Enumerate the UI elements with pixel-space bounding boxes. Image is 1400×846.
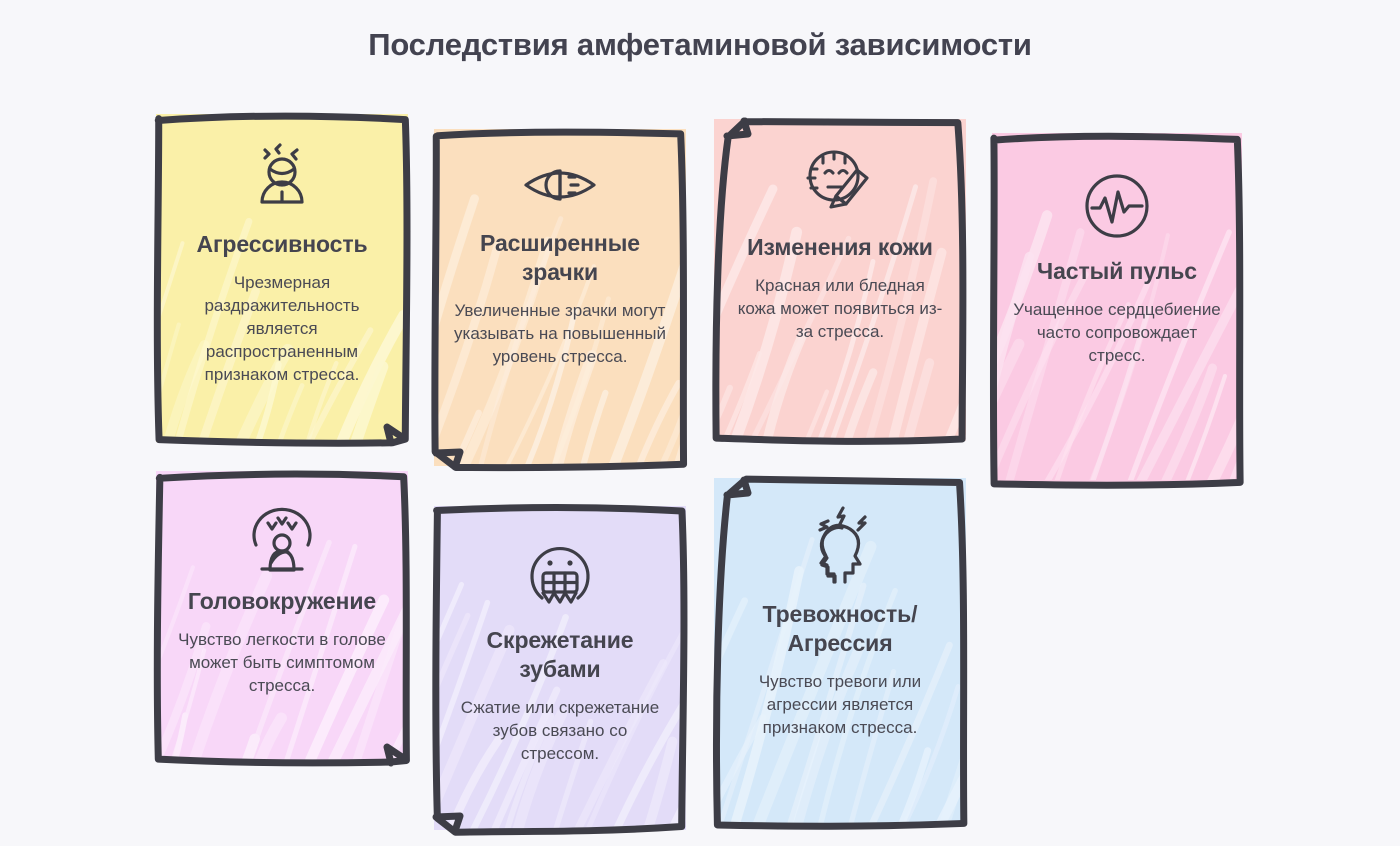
card-description: Чрезмерная раздражительность является ра… (176, 271, 388, 387)
card-teeth-grinding[interactable]: Скрежетание зубами Сжатие или скрежетани… (434, 506, 686, 830)
card-dizziness[interactable]: Головокружение Чувство легкости в голове… (156, 471, 408, 762)
card-title: Частый пульс (1037, 257, 1197, 286)
card-rapid-pulse[interactable]: Частый пульс Учащенное сердцебиение част… (992, 133, 1242, 485)
card-title: Изменения кожи (747, 233, 933, 262)
pulse-icon (1080, 169, 1154, 243)
card-description: Красная или бледная кожа может появиться… (734, 274, 946, 343)
card-description: Сжатие или скрежетание зубов связано со … (454, 696, 666, 765)
card-title: Головокружение (188, 587, 376, 616)
card-content: Тревожность/ Агрессия Чувство тревоги ил… (714, 478, 966, 826)
card-aggression[interactable]: Агрессивность Чрезмерная раздражительнос… (156, 114, 408, 442)
card-content: Головокружение Чувство легкости в голове… (156, 471, 408, 762)
card-content: Расширенные зрачки Увеличенные зрачки мо… (434, 129, 686, 466)
grinding-teeth-icon (522, 536, 598, 612)
card-description: Чувство легкости в голове может быть сим… (176, 628, 388, 697)
face-brush-icon (801, 145, 879, 219)
card-title: Агрессивность (196, 230, 367, 259)
card-description: Чувство тревоги или агрессии является пр… (734, 670, 946, 739)
card-title: Тревожность/ Агрессия (734, 600, 946, 658)
card-description: Увеличенные зрачки могут указывать на по… (454, 299, 666, 368)
eye-icon (520, 155, 600, 215)
dizzy-person-icon (240, 497, 324, 573)
card-anxiety-aggression[interactable]: Тревожность/ Агрессия Чувство тревоги ил… (714, 478, 966, 826)
card-content: Агрессивность Чрезмерная раздражительнос… (156, 114, 408, 442)
card-title: Расширенные зрачки (454, 229, 666, 287)
card-content: Частый пульс Учащенное сердцебиение част… (992, 133, 1242, 485)
card-dilated-pupils[interactable]: Расширенные зрачки Увеличенные зрачки мо… (434, 129, 686, 466)
two-heads-lightning-icon (798, 506, 882, 586)
cards-board: Агрессивность Чрезмерная раздражительнос… (0, 0, 1400, 846)
angry-person-icon (245, 142, 319, 216)
card-skin-changes[interactable]: Изменения кожи Красная или бледная кожа … (714, 119, 966, 441)
card-description: Учащенное сердцебиение часто сопровождае… (1012, 298, 1222, 367)
card-title: Скрежетание зубами (454, 626, 666, 684)
card-content: Скрежетание зубами Сжатие или скрежетани… (434, 506, 686, 830)
card-content: Изменения кожи Красная или бледная кожа … (714, 119, 966, 441)
